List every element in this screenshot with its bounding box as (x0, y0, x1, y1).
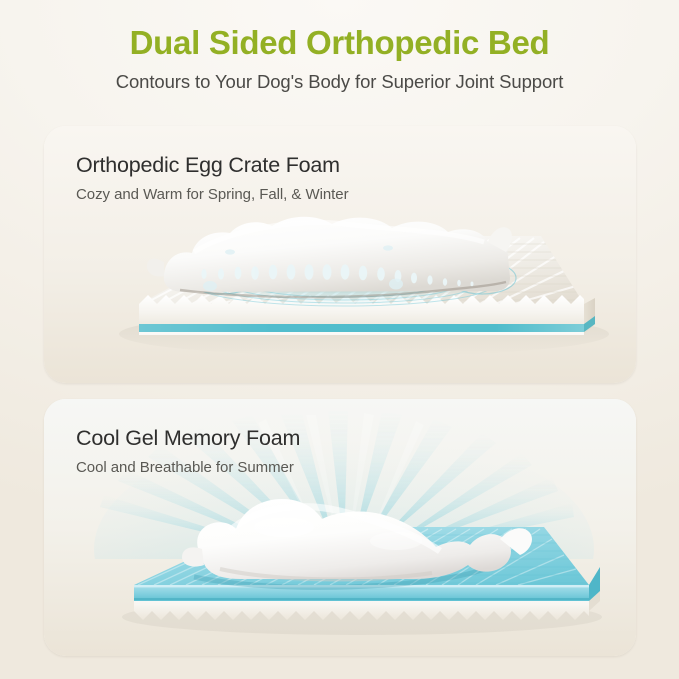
dog-body-on-gel (182, 499, 532, 587)
foam-base-zigzag (134, 585, 589, 620)
teal-accent-stripe (139, 324, 584, 332)
page-subtitle: Contours to Your Dog's Body for Superior… (0, 71, 679, 93)
egg-crate-texture (144, 238, 584, 304)
ventilation-dots (201, 245, 473, 291)
card-title: Cool Gel Memory Foam (76, 426, 596, 452)
feature-card-cool-gel-memory-foam: Cool Gel Memory Foam Cool and Breathable… (44, 399, 636, 656)
product-infographic: Dual Sided Orthopedic Bed Contours to Yo… (0, 0, 679, 679)
dog-body-impression (147, 217, 512, 297)
foam-ground-shadow (119, 312, 609, 356)
foam-front-zigzag-face (139, 295, 584, 334)
card-subtitle: Cool and Breathable for Summer (76, 459, 596, 477)
card-header-cool-gel: Cool Gel Memory Foam Cool and Breathable… (76, 426, 596, 477)
egg-crate-foam-slab (139, 236, 595, 335)
pad-ground-shadow (122, 599, 602, 635)
card-title: Orthopedic Egg Crate Foam (76, 153, 596, 179)
dog-silhouette (197, 499, 511, 579)
contour-ripple (188, 262, 516, 306)
foam-base-slab (134, 577, 600, 620)
page-title: Dual Sided Orthopedic Bed (0, 24, 679, 62)
gel-perforation-texture (138, 529, 589, 585)
card-subtitle: Cozy and Warm for Spring, Fall, & Winter (76, 186, 596, 204)
feature-card-egg-crate-foam: Orthopedic Egg Crate Foam Cozy and Warm … (44, 126, 636, 383)
cool-gel-layer (134, 527, 600, 601)
header: Dual Sided Orthopedic Bed Contours to Yo… (0, 24, 679, 93)
card-header-egg-crate: Orthopedic Egg Crate Foam Cozy and Warm … (76, 153, 596, 204)
